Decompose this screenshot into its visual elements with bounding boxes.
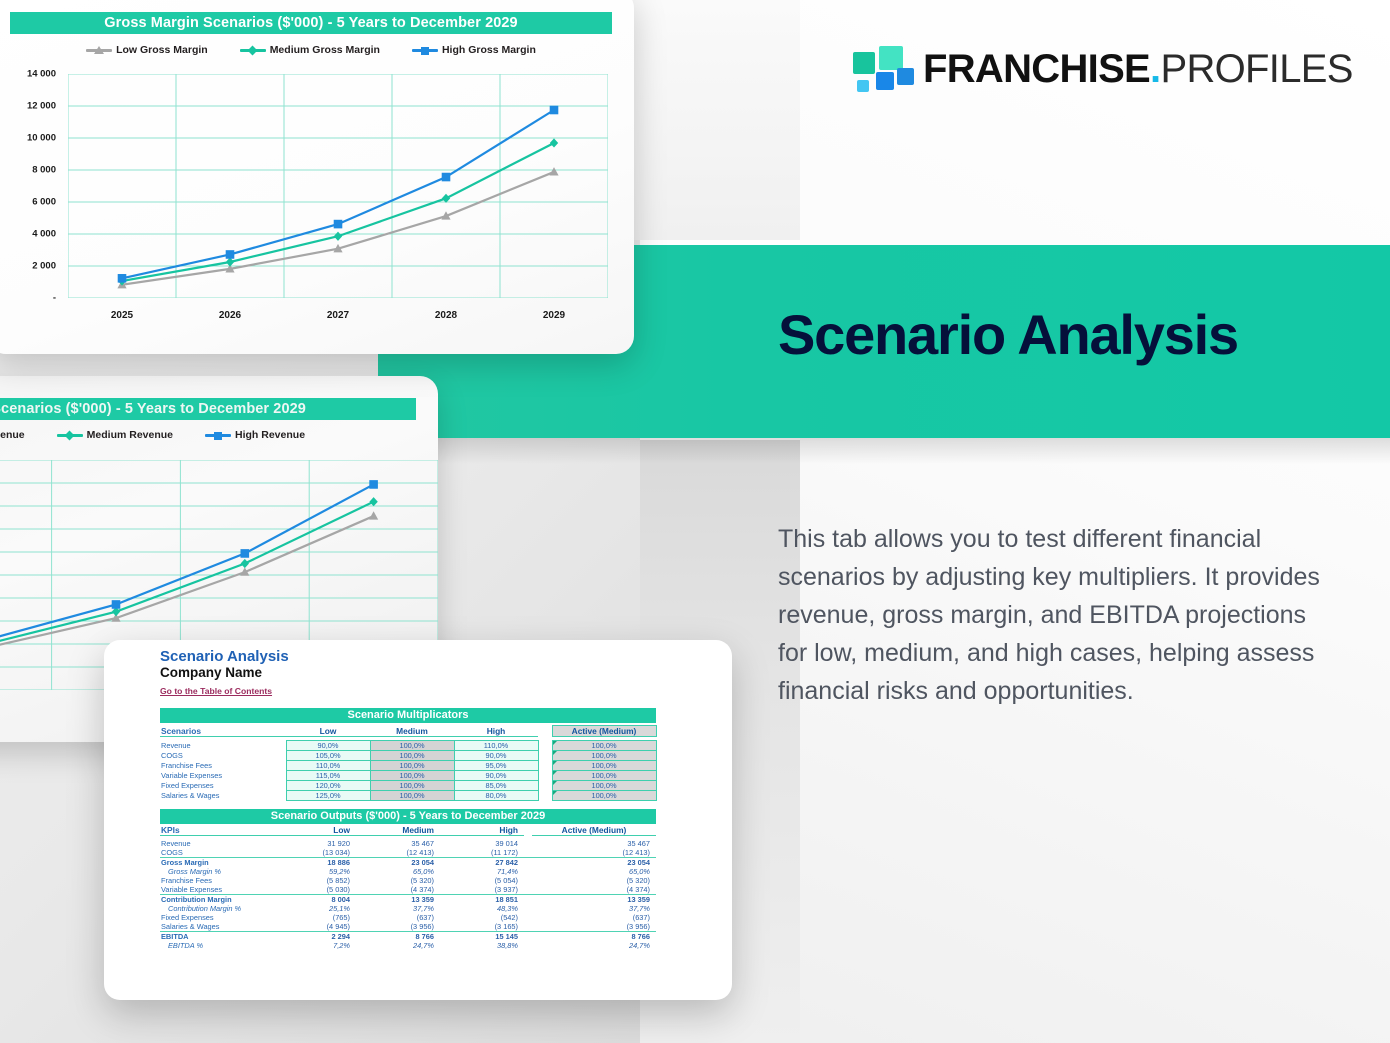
row-label: Gross Margin: [160, 858, 272, 868]
spacer-cell: [524, 839, 532, 848]
cell-high: (542): [440, 913, 524, 922]
legend-line-green: [240, 49, 266, 52]
table-row: Revenue90,0%100,0%110,0%100,0%: [160, 741, 656, 751]
cell-high: 27 842: [440, 858, 524, 868]
legend-item-medium-gross-margin: Medium Gross Margin: [240, 44, 380, 56]
cell-low: (4 945): [272, 922, 356, 932]
cell-medium: 37,7%: [356, 904, 440, 913]
x-axis-tick-label: 2028: [435, 310, 457, 321]
legend-item-high-gross-margin: High Gross Margin: [412, 44, 536, 56]
spacer-cell: [524, 825, 532, 836]
square-marker-icon: [421, 47, 429, 55]
spacer-cell: [524, 867, 532, 876]
cell-active: (4 374): [532, 885, 656, 895]
spacer-cell: [524, 932, 532, 942]
table-row: EBITDA %7,2%24,7%38,8%24,7%: [160, 941, 656, 950]
column-header-high: High: [454, 726, 538, 737]
row-label: EBITDA %: [160, 941, 272, 950]
spacer-cell: [524, 848, 532, 858]
table-row: Revenue31 92035 46739 01435 467: [160, 839, 656, 848]
cell-high: 38,8%: [440, 941, 524, 950]
gross-margin-chart-plot-area: [68, 74, 608, 298]
column-header-kpis: KPIs: [160, 825, 272, 836]
cell-active: 100,0%: [552, 741, 656, 751]
cell-active: (637): [532, 913, 656, 922]
cell-low: 115,0%: [286, 771, 370, 781]
y-axis-tick-label: 6 000: [32, 197, 56, 208]
cell-active: 100,0%: [552, 791, 656, 801]
cell-high: 110,0%: [454, 741, 538, 751]
legend-item-medium-revenue: Medium Revenue: [57, 429, 173, 441]
cell-active: (5 320): [532, 876, 656, 885]
cell-high: 48,3%: [440, 904, 524, 913]
table-row: Gross Margin %59,2%65,0%71,4%65,0%: [160, 867, 656, 876]
cell-low: 90,0%: [286, 741, 370, 751]
legend-line-blue: [412, 49, 438, 52]
cell-low: 25,1%: [272, 904, 356, 913]
brand-logo: FRANCHISE.PROFILES: [853, 46, 1353, 92]
scenario-analysis-sheet-card: Scenario Analysis Company Name Go to the…: [104, 640, 732, 1000]
cell-high: 85,0%: [454, 781, 538, 791]
cell-active: 8 766: [532, 932, 656, 942]
row-label: Revenue: [160, 741, 286, 751]
cell-medium: (637): [356, 913, 440, 922]
chart-title-revenue: Revenue Scenarios ($'000) - 5 Years to D…: [0, 398, 416, 420]
cell-high: 15 145: [440, 932, 524, 942]
table-row: Contribution Margin8 00413 35918 85113 3…: [160, 895, 656, 905]
column-header-high: High: [440, 825, 524, 836]
cell-high: 80,0%: [454, 791, 538, 801]
row-label: Contribution Margin: [160, 895, 272, 905]
spacer-cell: [524, 876, 532, 885]
gross-margin-chart-card: Gross Margin Scenarios ($'000) - 5 Years…: [0, 0, 634, 354]
table-of-contents-link[interactable]: Go to the Table of Contents: [160, 686, 272, 696]
row-label: Variable Expenses: [160, 771, 286, 781]
cell-medium: (5 320): [356, 876, 440, 885]
spacer-cell: [524, 858, 532, 868]
spacer-cell: [538, 771, 552, 781]
cell-low: 31 920: [272, 839, 356, 848]
square-marker-icon: [214, 432, 222, 440]
legend-line-green: [57, 434, 83, 437]
y-axis-tick-label: 14 000: [27, 69, 56, 80]
column-header-scenarios: Scenarios: [160, 726, 286, 737]
legend-line-blue: [205, 434, 231, 437]
column-header-active: Active (Medium): [552, 726, 656, 737]
cell-medium: (12 413): [356, 848, 440, 858]
cell-high: (5 054): [440, 876, 524, 885]
gross-margin-chart-y-axis: -2 0004 0006 0008 00010 00012 00014 000: [0, 74, 56, 298]
cell-active: 35 467: [532, 839, 656, 848]
spacer-cell: [524, 885, 532, 895]
table-header-row: KPIsLowMediumHighActive (Medium): [160, 825, 656, 836]
row-label: Revenue: [160, 839, 272, 848]
hero-description: This tab allows you to test different fi…: [778, 520, 1334, 710]
spacer-cell: [538, 741, 552, 751]
cell-low: 8 004: [272, 895, 356, 905]
chart-legend-gross-margin: Low Gross Margin Medium Gross Margin Hig…: [0, 44, 634, 56]
spacer-cell: [524, 941, 532, 950]
legend-label-high-revenue: High Revenue: [235, 429, 305, 441]
row-label: Salaries & Wages: [160, 791, 286, 801]
table-row: COGS(13 034)(12 413)(11 172)(12 413): [160, 848, 656, 858]
table-row: Variable Expenses115,0%100,0%90,0%100,0%: [160, 771, 656, 781]
cell-active: 13 359: [532, 895, 656, 905]
legend-label-low-gross-margin: Low Gross Margin: [116, 44, 208, 56]
row-label: Franchise Fees: [160, 761, 286, 771]
row-label: Salaries & Wages: [160, 922, 272, 932]
legend-label-low-revenue: Low Revenue: [0, 429, 25, 441]
cell-low: 2 294: [272, 932, 356, 942]
table-row: Contribution Margin %25,1%37,7%48,3%37,7…: [160, 904, 656, 913]
table-row: Fixed Expenses(765)(637)(542)(637): [160, 913, 656, 922]
cell-high: 95,0%: [454, 761, 538, 771]
triangle-marker-icon: [94, 46, 104, 54]
spacer-cell: [524, 904, 532, 913]
spacer-cell: [538, 761, 552, 771]
row-label: EBITDA: [160, 932, 272, 942]
legend-label-high-gross-margin: High Gross Margin: [442, 44, 536, 56]
legend-item-low-gross-margin: Low Gross Margin: [86, 44, 208, 56]
cell-low: 59,2%: [272, 867, 356, 876]
column-header-medium: Medium: [370, 726, 454, 737]
spacer-cell: [524, 913, 532, 922]
row-label: COGS: [160, 751, 286, 761]
y-axis-tick-label: 8 000: [32, 165, 56, 176]
x-axis-tick-label: 2025: [111, 310, 133, 321]
cell-low: (13 034): [272, 848, 356, 858]
cell-medium: 100,0%: [370, 771, 454, 781]
scenario-multiplicators-table: ScenariosLowMediumHighActive (Medium)Rev…: [160, 725, 657, 801]
cell-active: (12 413): [532, 848, 656, 858]
table-row: Variable Expenses(5 030)(4 374)(3 937)(4…: [160, 885, 656, 895]
table-row: Fixed Expenses120,0%100,0%85,0%100,0%: [160, 781, 656, 791]
cell-high: 90,0%: [454, 771, 538, 781]
gross-margin-chart-x-axis: 20252026202720282029: [68, 310, 608, 326]
cell-low: (5 852): [272, 876, 356, 885]
cell-active: 100,0%: [552, 751, 656, 761]
spacer-cell: [524, 895, 532, 905]
chart-legend-revenue: Low Revenue Medium Revenue High Revenue: [0, 429, 438, 441]
sheet-content: Scenario Analysis Company Name Go to the…: [160, 648, 722, 950]
table-row: Salaries & Wages125,0%100,0%80,0%100,0%: [160, 791, 656, 801]
spacer-cell: [524, 922, 532, 932]
cell-active: 100,0%: [552, 761, 656, 771]
column-header-active: Active (Medium): [532, 825, 656, 836]
spacer-cell: [538, 726, 552, 737]
spacer-cell: [538, 781, 552, 791]
row-label: Fixed Expenses: [160, 781, 286, 791]
legend-item-high-revenue: High Revenue: [205, 429, 305, 441]
x-axis-tick-label: 2027: [327, 310, 349, 321]
row-label: Contribution Margin %: [160, 904, 272, 913]
cell-medium: 100,0%: [370, 761, 454, 771]
hero-band-shadow: [378, 438, 1390, 464]
legend-label-medium-gross-margin: Medium Gross Margin: [270, 44, 380, 56]
cell-low: 18 886: [272, 858, 356, 868]
cell-medium: (4 374): [356, 885, 440, 895]
legend-item-low-revenue: Low Revenue: [0, 429, 25, 441]
cell-high: (11 172): [440, 848, 524, 858]
cell-active: 37,7%: [532, 904, 656, 913]
table-row: EBITDA2 2948 76615 1458 766: [160, 932, 656, 942]
sheet-heading: Scenario Analysis: [160, 648, 722, 665]
diamond-marker-icon: [64, 430, 74, 440]
cell-medium: 100,0%: [370, 751, 454, 761]
multiplicators-band-title: Scenario Multiplicators: [160, 708, 656, 723]
legend-line-grey: [86, 49, 112, 52]
row-label: Fixed Expenses: [160, 913, 272, 922]
column-header-low: Low: [272, 825, 356, 836]
cell-medium: 100,0%: [370, 741, 454, 751]
row-label: COGS: [160, 848, 272, 858]
cell-high: 71,4%: [440, 867, 524, 876]
cell-medium: 100,0%: [370, 791, 454, 801]
cell-active: 24,7%: [532, 941, 656, 950]
cell-medium: 13 359: [356, 895, 440, 905]
cell-high: (3 165): [440, 922, 524, 932]
cell-active: 100,0%: [552, 781, 656, 791]
table-row: Franchise Fees(5 852)(5 320)(5 054)(5 32…: [160, 876, 656, 885]
cell-medium: 65,0%: [356, 867, 440, 876]
table-row: Franchise Fees110,0%100,0%95,0%100,0%: [160, 761, 656, 771]
table-row: COGS105,0%100,0%90,0%100,0%: [160, 751, 656, 761]
cell-low: 125,0%: [286, 791, 370, 801]
chart-title-gross-margin: Gross Margin Scenarios ($'000) - 5 Years…: [10, 12, 612, 34]
cell-low: 105,0%: [286, 751, 370, 761]
table-row: Gross Margin18 88623 05427 84223 054: [160, 858, 656, 868]
y-axis-tick-label: 2 000: [32, 261, 56, 272]
cell-medium: (3 956): [356, 922, 440, 932]
cell-active: 23 054: [532, 858, 656, 868]
cell-low: (5 030): [272, 885, 356, 895]
cell-active: 65,0%: [532, 867, 656, 876]
cell-low: 7,2%: [272, 941, 356, 950]
y-axis-tick-label: 12 000: [27, 101, 56, 112]
x-axis-tick-label: 2029: [543, 310, 565, 321]
column-header-medium: Medium: [356, 825, 440, 836]
logo-text-bold: FRANCHISE: [923, 47, 1150, 91]
row-label: Variable Expenses: [160, 885, 272, 895]
cell-medium: 100,0%: [370, 781, 454, 791]
table-row: Salaries & Wages(4 945)(3 956)(3 165)(3 …: [160, 922, 656, 932]
y-axis-tick-label: -: [53, 293, 56, 304]
spacer-cell: [538, 751, 552, 761]
row-label: Franchise Fees: [160, 876, 272, 885]
cell-low: 110,0%: [286, 761, 370, 771]
cell-high: (3 937): [440, 885, 524, 895]
table-header-row: ScenariosLowMediumHighActive (Medium): [160, 726, 656, 737]
column-header-low: Low: [286, 726, 370, 737]
sheet-company-name: Company Name: [160, 665, 722, 681]
cell-high: 90,0%: [454, 751, 538, 761]
cell-medium: 35 467: [356, 839, 440, 848]
row-label: Gross Margin %: [160, 867, 272, 876]
cell-low: (765): [272, 913, 356, 922]
cell-active: (3 956): [532, 922, 656, 932]
legend-label-medium-revenue: Medium Revenue: [87, 429, 173, 441]
y-axis-tick-label: 4 000: [32, 229, 56, 240]
cell-high: 39 014: [440, 839, 524, 848]
cell-high: 18 851: [440, 895, 524, 905]
cell-medium: 24,7%: [356, 941, 440, 950]
x-axis-tick-label: 2026: [219, 310, 241, 321]
spacer-cell: [538, 791, 552, 801]
outputs-band-title: Scenario Outputs ($'000) - 5 Years to De…: [160, 809, 656, 824]
page-title: Scenario Analysis: [778, 305, 1238, 365]
logo-text-light: PROFILES: [1160, 47, 1352, 91]
logo-text-dot: .: [1150, 47, 1160, 91]
brand-wordmark: FRANCHISE.PROFILES: [923, 49, 1353, 89]
scenario-outputs-table: KPIsLowMediumHighActive (Medium)Revenue3…: [160, 825, 656, 950]
y-axis-tick-label: 10 000: [27, 133, 56, 144]
diamond-marker-icon: [247, 45, 257, 55]
cell-low: 120,0%: [286, 781, 370, 791]
cell-medium: 23 054: [356, 858, 440, 868]
cell-active: 100,0%: [552, 771, 656, 781]
franchise-profiles-logo-icon: [853, 46, 905, 92]
cell-medium: 8 766: [356, 932, 440, 942]
